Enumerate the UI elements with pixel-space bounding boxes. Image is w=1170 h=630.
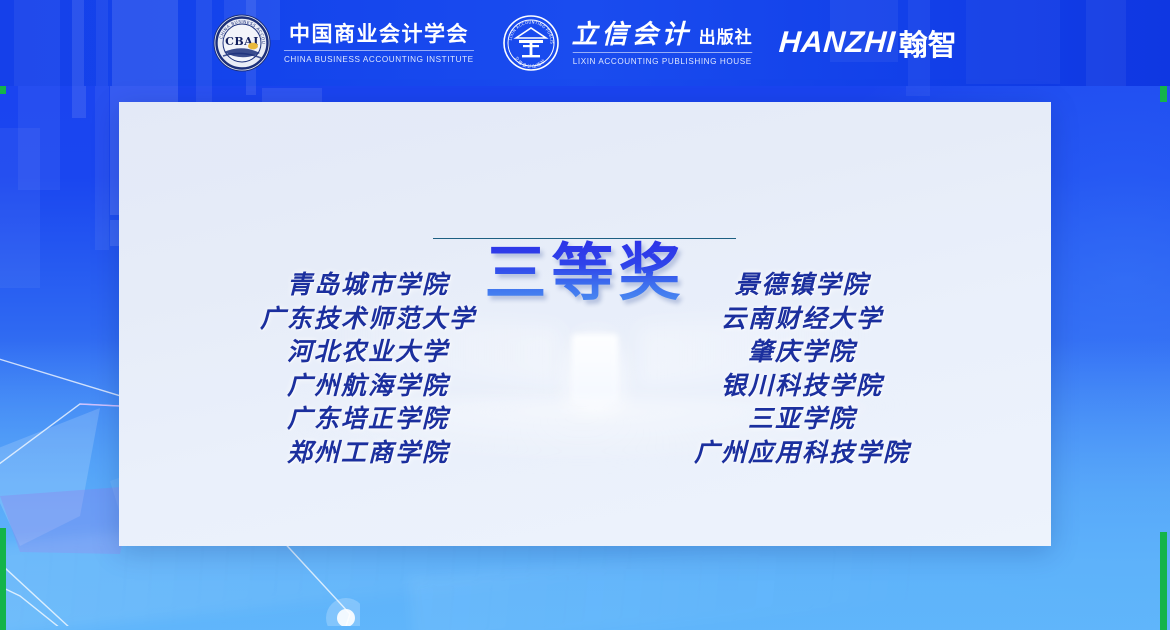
lixin-seal-icon: LIXIN ACCOUNTING PUBLISHING H 立信会计出版社: [502, 14, 560, 72]
lixin-name-en: LIXIN ACCOUNTING PUBLISHING HOUSE: [573, 52, 752, 66]
lixin-name-brush: 立信会计: [572, 21, 692, 49]
lixin-name-cn-row: 立信会计 出版社: [572, 21, 753, 49]
slide-stage: CBAI CHINA BUSINESS ACCOUNTING INST 中国商业…: [0, 0, 1170, 630]
lixin-logo-text: 立信会计 出版社 LIXIN ACCOUNTING PUBLISHING HOU…: [569, 21, 756, 66]
award-panel: 三等奖 青岛城市学院 广东技术师范大学 河北农业大学 广州航海学院 广东培正学院…: [119, 102, 1051, 546]
list-item: 云南财经大学: [694, 302, 910, 336]
accent-strip-green: [0, 528, 6, 630]
logo-cbai: CBAI CHINA BUSINESS ACCOUNTING INST 中国商业…: [213, 14, 478, 72]
list-item: 青岛城市学院: [260, 268, 476, 302]
logo-row: CBAI CHINA BUSINESS ACCOUNTING INST 中国商业…: [0, 0, 1170, 86]
accent-strip-green: [1160, 532, 1167, 630]
list-item: 银川科技学院: [694, 369, 910, 403]
list-item: 肇庆学院: [694, 335, 910, 369]
logo-lixin: LIXIN ACCOUNTING PUBLISHING H 立信会计出版社 立信…: [502, 14, 756, 72]
cbai-name-en: CHINA BUSINESS ACCOUNTING INSTITUTE: [284, 50, 474, 64]
lixin-name-sub: 出版社: [699, 23, 753, 48]
list-item: 广东技术师范大学: [260, 302, 476, 336]
winners-column-right: 景德镇学院 云南财经大学 肇庆学院 银川科技学院 三亚学院 广州应用科技学院: [694, 268, 910, 470]
hanzhi-wordmark: HANZHI 翰智: [779, 22, 956, 64]
winners-columns: 青岛城市学院 广东技术师范大学 河北农业大学 广州航海学院 广东培正学院 郑州工…: [119, 268, 1051, 470]
winners-column-left: 青岛城市学院 广东技术师范大学 河北农业大学 广州航海学院 广东培正学院 郑州工…: [260, 268, 476, 470]
list-item: 广州应用科技学院: [694, 436, 910, 470]
title-divider: [433, 238, 736, 239]
list-item: 三亚学院: [694, 402, 910, 436]
cbai-name-cn: 中国商业会计学会: [289, 23, 469, 47]
list-item: 景德镇学院: [694, 268, 910, 302]
list-item: 广州航海学院: [260, 369, 476, 403]
hanzhi-name-latin: HANZHI: [778, 26, 897, 60]
cbai-logo-text: 中国商业会计学会 CHINA BUSINESS ACCOUNTING INSTI…: [280, 23, 478, 64]
list-item: 河北农业大学: [260, 335, 476, 369]
list-item: 广东培正学院: [260, 402, 476, 436]
hanzhi-name-cjk: 翰智: [899, 22, 957, 64]
logo-hanzhi: HANZHI 翰智: [779, 22, 956, 64]
background-ribbon: [0, 128, 40, 288]
header-banner: CBAI CHINA BUSINESS ACCOUNTING INST 中国商业…: [0, 0, 1170, 86]
cbai-seal-icon: CBAI CHINA BUSINESS ACCOUNTING INST: [213, 14, 271, 72]
list-item: 郑州工商学院: [260, 436, 476, 470]
